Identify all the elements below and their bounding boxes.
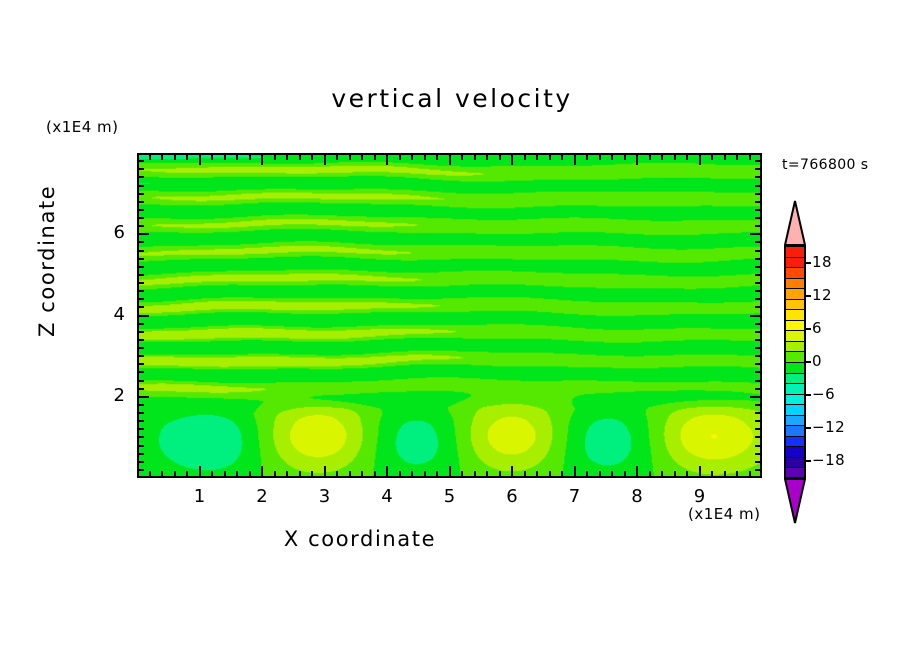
y-axis-tick xyxy=(139,282,144,284)
y-axis-tick xyxy=(139,388,144,390)
x-axis-tick xyxy=(361,471,363,476)
x-axis-tick xyxy=(686,471,688,476)
y-axis-tick xyxy=(139,428,144,430)
colorbar-tick xyxy=(806,328,811,330)
y-axis-title: Z coordinate xyxy=(35,197,59,337)
x-axis-tick xyxy=(586,155,588,160)
y-axis-tick xyxy=(139,250,144,252)
y-axis-tick xyxy=(755,201,760,203)
colorbar-tick xyxy=(806,460,811,462)
y-axis-tick xyxy=(139,176,144,178)
x-axis-tick xyxy=(624,471,626,476)
y-axis-tick xyxy=(755,339,760,341)
colorbar-separator xyxy=(784,341,806,342)
y-axis-tick xyxy=(755,380,760,382)
x-axis-tick xyxy=(274,155,276,160)
colorbar-separator xyxy=(784,320,806,321)
x-axis-tick xyxy=(461,471,463,476)
x-axis-tick xyxy=(374,471,376,476)
y-axis-tick xyxy=(139,185,144,187)
y-axis-tick xyxy=(139,461,144,463)
x-axis-tick xyxy=(499,155,501,160)
y-axis-tick xyxy=(755,282,760,284)
y-axis-tick xyxy=(755,461,760,463)
colorbar-band xyxy=(784,341,806,352)
x-axis-tick xyxy=(236,471,238,476)
y-axis-tick xyxy=(139,363,144,365)
colorbar-separator xyxy=(784,351,806,352)
x-axis-tick xyxy=(661,471,663,476)
y-axis-tick xyxy=(139,445,144,447)
x-axis-tick xyxy=(199,466,201,476)
y-axis-tick xyxy=(755,363,760,365)
x-axis-tick xyxy=(686,155,688,160)
colorbar-band xyxy=(784,299,806,310)
vertical-velocity-field xyxy=(139,155,760,476)
x-axis-tick xyxy=(699,155,701,165)
y-axis-tick xyxy=(755,217,760,219)
x-axis-tick xyxy=(274,471,276,476)
x-axis-tick xyxy=(349,471,351,476)
x-axis-tick xyxy=(336,471,338,476)
y-axis-tick xyxy=(139,209,144,211)
colorbar-top-arrow-icon xyxy=(784,200,806,246)
x-axis-tick xyxy=(561,471,563,476)
y-axis-tick xyxy=(750,315,760,317)
x-axis-tick xyxy=(674,155,676,160)
y-axis-tick xyxy=(139,217,144,219)
y-axis-tick xyxy=(755,323,760,325)
x-axis-tick xyxy=(574,155,576,165)
y-axis-tick-label: 2 xyxy=(89,385,125,406)
x-axis-tick xyxy=(586,471,588,476)
x-axis-tick xyxy=(349,155,351,160)
x-axis-tick xyxy=(749,471,751,476)
x-axis-tick xyxy=(299,155,301,160)
x-axis-tick xyxy=(474,471,476,476)
y-axis-tick xyxy=(755,428,760,430)
colorbar-tick-label: 0 xyxy=(812,352,822,370)
x-axis-tick-label: 5 xyxy=(430,486,470,507)
x-axis-tick xyxy=(749,155,751,160)
x-axis-tick xyxy=(511,155,513,165)
y-axis-tick xyxy=(755,347,760,349)
x-axis-tick xyxy=(424,155,426,160)
y-axis-tick xyxy=(139,469,144,471)
x-axis-tick xyxy=(311,471,313,476)
x-axis-tick xyxy=(149,155,151,160)
z-axis-unit-label: (x1E4 m) xyxy=(46,118,119,136)
y-axis-tick xyxy=(755,250,760,252)
colorbar-tick xyxy=(806,394,811,396)
y-axis-tick xyxy=(139,193,144,195)
y-axis-tick xyxy=(139,225,144,227)
colorbar-separator xyxy=(784,457,806,458)
colorbar-band xyxy=(784,257,806,268)
x-axis-tick xyxy=(161,155,163,160)
y-axis-tick xyxy=(139,453,144,455)
x-axis-tick xyxy=(424,471,426,476)
colorbar-band xyxy=(784,394,806,405)
colorbar-band xyxy=(784,404,806,415)
x-axis-tick xyxy=(474,155,476,160)
x-axis-tick xyxy=(599,471,601,476)
y-axis-tick xyxy=(139,396,149,398)
y-axis-tick xyxy=(139,298,144,300)
x-axis-tick-label: 9 xyxy=(680,486,720,507)
y-axis-tick xyxy=(139,306,144,308)
colorbar-bottom-arrow-icon xyxy=(784,478,806,524)
y-axis-tick xyxy=(139,315,149,317)
x-axis-tick xyxy=(436,155,438,160)
x-axis-tick xyxy=(224,155,226,160)
colorbar-separator xyxy=(784,309,806,310)
colorbar-separator xyxy=(784,394,806,395)
colorbar-band xyxy=(784,457,806,468)
y-axis-tick xyxy=(755,412,760,414)
x-axis-tick xyxy=(736,471,738,476)
x-axis-tick xyxy=(211,471,213,476)
y-axis-tick xyxy=(755,266,760,268)
y-axis-tick xyxy=(755,274,760,276)
x-axis-tick xyxy=(249,155,251,160)
x-axis-title: X coordinate xyxy=(0,527,720,551)
x-axis-tick xyxy=(249,471,251,476)
colorbar-separator xyxy=(784,257,806,258)
y-axis-tick xyxy=(139,201,144,203)
y-axis-tick xyxy=(139,371,144,373)
x-axis-tick xyxy=(699,466,701,476)
colorbar-band xyxy=(784,267,806,278)
x-axis-tick xyxy=(399,471,401,476)
y-axis-tick xyxy=(755,290,760,292)
y-axis-tick xyxy=(139,355,144,357)
x-axis-tick xyxy=(636,466,638,476)
colorbar-band xyxy=(784,351,806,362)
x-axis-tick xyxy=(224,471,226,476)
colorbar-separator xyxy=(784,415,806,416)
x-axis-tick-label: 6 xyxy=(492,486,532,507)
page-title: vertical velocity xyxy=(0,84,904,113)
x-axis-tick xyxy=(549,471,551,476)
colorbar-separator xyxy=(784,267,806,268)
x-axis-tick xyxy=(636,155,638,165)
x-axis-tick xyxy=(549,155,551,160)
x-axis-tick xyxy=(299,471,301,476)
y-axis-tick xyxy=(139,331,144,333)
colorbar-band xyxy=(784,362,806,373)
y-axis-tick xyxy=(755,185,760,187)
contour-plot-area xyxy=(137,153,762,478)
y-axis-tick xyxy=(755,168,760,170)
colorbar-tick xyxy=(806,427,811,429)
y-axis-tick xyxy=(755,371,760,373)
x-axis-tick xyxy=(486,471,488,476)
y-axis-tick xyxy=(139,160,144,162)
x-axis-tick xyxy=(261,466,263,476)
x-axis-tick xyxy=(174,155,176,160)
x-axis-tick xyxy=(411,471,413,476)
x-axis-tick-label: 4 xyxy=(367,486,407,507)
colorbar xyxy=(784,246,806,478)
colorbar-band xyxy=(784,425,806,436)
y-axis-tick xyxy=(755,298,760,300)
x-axis-tick xyxy=(736,155,738,160)
y-axis-tick xyxy=(139,323,144,325)
y-axis-tick xyxy=(755,209,760,211)
colorbar-separator xyxy=(784,278,806,279)
colorbar-band xyxy=(784,320,806,331)
x-axis-tick xyxy=(599,155,601,160)
colorbar-band xyxy=(784,415,806,426)
x-axis-tick xyxy=(186,155,188,160)
colorbar-separator xyxy=(784,288,806,289)
x-axis-tick xyxy=(324,155,326,165)
colorbar-separator xyxy=(784,246,806,247)
y-axis-tick xyxy=(139,241,144,243)
y-axis-tick xyxy=(139,404,144,406)
x-axis-tick xyxy=(711,155,713,160)
colorbar-band xyxy=(784,383,806,394)
x-axis-tick xyxy=(149,471,151,476)
x-axis-tick xyxy=(724,155,726,160)
x-axis-tick xyxy=(399,155,401,160)
x-axis-tick xyxy=(311,155,313,160)
x-axis-tick-label: 2 xyxy=(242,486,282,507)
x-axis-tick xyxy=(536,155,538,160)
x-axis-tick-label: 7 xyxy=(555,486,595,507)
colorbar-band xyxy=(784,309,806,320)
x-axis-tick xyxy=(649,155,651,160)
x-axis-tick xyxy=(486,155,488,160)
x-axis-tick xyxy=(361,155,363,160)
colorbar-separator xyxy=(784,404,806,405)
colorbar-tick-label: −18 xyxy=(812,451,845,469)
colorbar-band xyxy=(784,446,806,457)
colorbar-tick-label: 18 xyxy=(812,253,832,271)
x-axis-tick xyxy=(611,471,613,476)
colorbar-separator xyxy=(784,425,806,426)
y-axis-tick xyxy=(755,404,760,406)
x-axis-tick xyxy=(236,155,238,160)
y-axis-tick xyxy=(750,233,760,235)
y-axis-tick xyxy=(139,168,144,170)
x-axis-tick xyxy=(511,466,513,476)
x-axis-tick xyxy=(711,471,713,476)
x-axis-tick xyxy=(536,471,538,476)
x-axis-tick xyxy=(674,471,676,476)
y-axis-tick xyxy=(755,241,760,243)
y-axis-tick xyxy=(755,420,760,422)
colorbar-tick xyxy=(806,295,811,297)
x-axis-tick-label: 1 xyxy=(180,486,220,507)
x-axis-tick xyxy=(574,466,576,476)
colorbar-tick xyxy=(806,262,811,264)
x-axis-tick xyxy=(261,155,263,165)
y-axis-tick xyxy=(755,453,760,455)
y-axis-tick xyxy=(139,347,144,349)
y-axis-tick xyxy=(139,258,144,260)
colorbar-tick-label: −12 xyxy=(812,418,845,436)
y-axis-tick xyxy=(139,233,149,235)
x-axis-tick xyxy=(336,155,338,160)
x-axis-tick xyxy=(374,155,376,160)
x-axis-tick xyxy=(436,471,438,476)
colorbar-band xyxy=(784,246,806,257)
x-axis-tick xyxy=(211,155,213,160)
colorbar-separator xyxy=(784,467,806,468)
y-axis-tick xyxy=(139,412,144,414)
x-axis-tick xyxy=(524,471,526,476)
y-axis-tick xyxy=(755,469,760,471)
colorbar-separator xyxy=(784,330,806,331)
y-axis-tick xyxy=(755,331,760,333)
x-axis-tick xyxy=(724,471,726,476)
y-axis-tick xyxy=(139,274,144,276)
x-axis-tick xyxy=(611,155,613,160)
colorbar-tick-label: −6 xyxy=(812,385,835,403)
x-axis-tick xyxy=(324,466,326,476)
colorbar-tick xyxy=(806,361,811,363)
x-axis-tick xyxy=(499,471,501,476)
x-axis-tick xyxy=(161,471,163,476)
time-annotation: t=766800 s xyxy=(782,157,868,173)
x-axis-tick xyxy=(649,471,651,476)
x-axis-tick xyxy=(461,155,463,160)
colorbar-separator xyxy=(784,383,806,384)
y-axis-tick xyxy=(755,225,760,227)
colorbar-band xyxy=(784,330,806,341)
y-axis-tick xyxy=(755,193,760,195)
y-axis-tick xyxy=(755,176,760,178)
x-axis-tick xyxy=(386,466,388,476)
x-axis-tick xyxy=(411,155,413,160)
x-axis-tick xyxy=(561,155,563,160)
colorbar-band xyxy=(784,288,806,299)
colorbar-band xyxy=(784,278,806,289)
y-axis-tick xyxy=(755,445,760,447)
y-axis-tick xyxy=(139,339,144,341)
y-axis-tick-label: 6 xyxy=(89,222,125,243)
x-axis-tick-label: 8 xyxy=(617,486,657,507)
colorbar-tick-label: 6 xyxy=(812,319,822,337)
x-axis-tick xyxy=(199,155,201,165)
colorbar-separator xyxy=(784,373,806,374)
x-axis-tick xyxy=(174,471,176,476)
x-axis-tick xyxy=(286,155,288,160)
colorbar-separator xyxy=(784,299,806,300)
x-axis-tick xyxy=(624,155,626,160)
colorbar-separator xyxy=(784,362,806,363)
x-axis-tick xyxy=(449,466,451,476)
y-axis-tick xyxy=(755,258,760,260)
colorbar-tick-label: 12 xyxy=(812,286,832,304)
x-axis-unit-label: (x1E4 m) xyxy=(688,505,761,523)
x-axis-tick xyxy=(449,155,451,165)
y-axis-tick xyxy=(750,396,760,398)
y-axis-tick xyxy=(755,436,760,438)
y-axis-tick xyxy=(139,266,144,268)
x-axis-tick xyxy=(524,155,526,160)
y-axis-tick xyxy=(139,420,144,422)
y-axis-tick xyxy=(139,436,144,438)
y-axis-tick xyxy=(755,306,760,308)
x-axis-tick xyxy=(386,155,388,165)
colorbar-separator xyxy=(784,446,806,447)
y-axis-tick-label: 4 xyxy=(89,304,125,325)
colorbar-separator xyxy=(784,436,806,437)
colorbar-band xyxy=(784,373,806,384)
x-axis-tick xyxy=(661,155,663,160)
x-axis-tick xyxy=(186,471,188,476)
colorbar-band xyxy=(784,436,806,447)
y-axis-tick xyxy=(755,388,760,390)
x-axis-tick xyxy=(286,471,288,476)
y-axis-tick xyxy=(755,355,760,357)
y-axis-tick xyxy=(755,160,760,162)
y-axis-tick xyxy=(139,380,144,382)
y-axis-tick xyxy=(139,290,144,292)
x-axis-tick-label: 3 xyxy=(305,486,345,507)
